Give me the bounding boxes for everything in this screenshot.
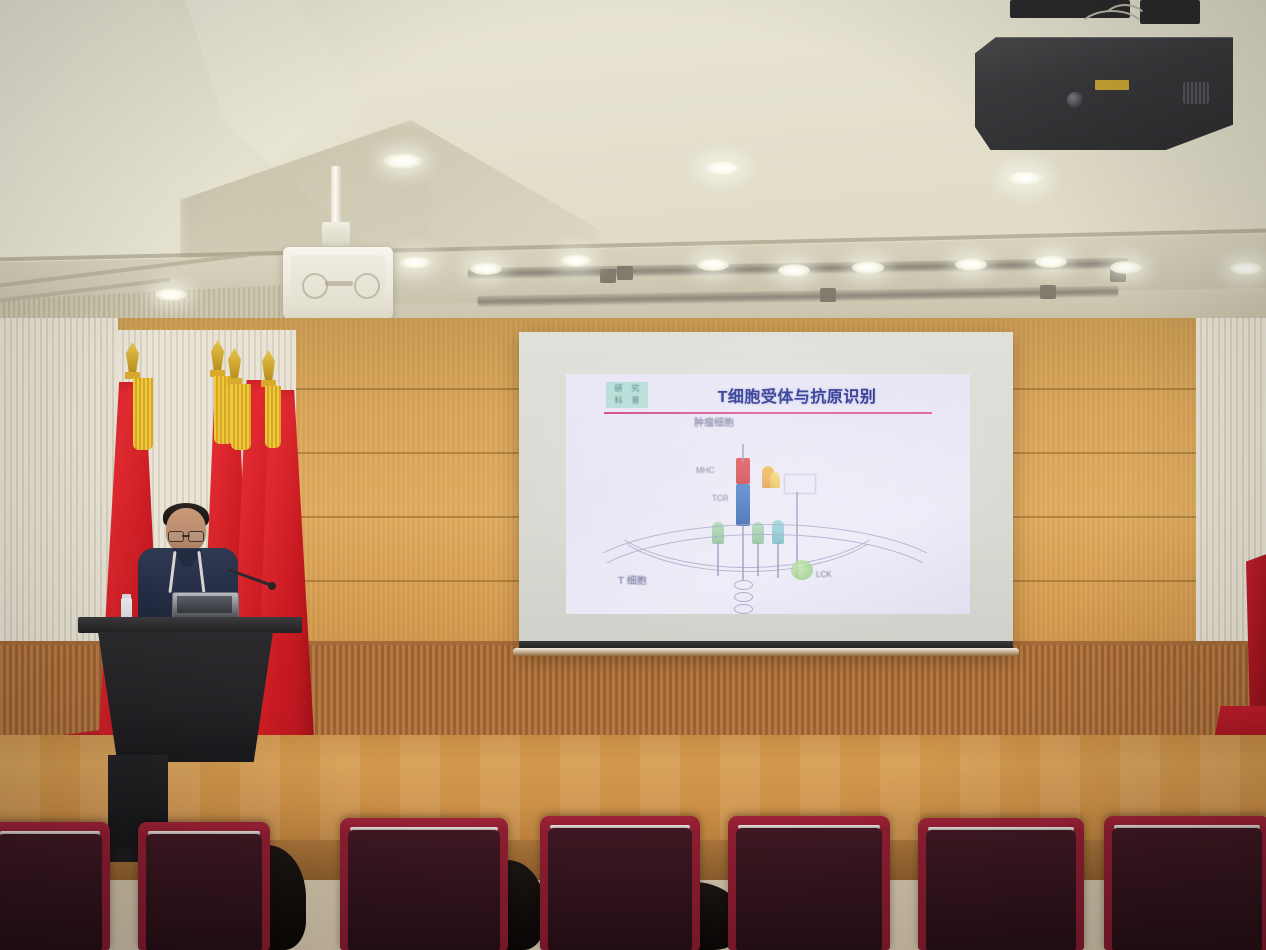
microphone-head-icon xyxy=(268,582,276,590)
audience-seat-1 xyxy=(0,822,110,950)
downlight-5 xyxy=(399,256,431,269)
downlight-1 xyxy=(383,153,423,169)
speaker-bracket xyxy=(322,222,350,246)
mhc-label: MHC xyxy=(696,466,714,475)
downlight-2 xyxy=(702,160,742,176)
downlight-4 xyxy=(155,288,187,301)
auditorium-photo: 研 究 科 普 T细胞受体与抗原识别 肿瘤细胞 MHC TCR xyxy=(0,0,1266,950)
track-clip-2 xyxy=(617,266,633,280)
logo-char-2: 究 xyxy=(628,384,644,394)
seat-backrest xyxy=(1112,828,1262,950)
glasses-lens-right xyxy=(188,531,204,542)
signal-chain-1 xyxy=(734,580,753,590)
downlight-13 xyxy=(1110,261,1142,274)
flag-tassel-3 xyxy=(231,384,251,450)
tcr-label: TCR xyxy=(712,494,728,503)
audience-seat-3 xyxy=(340,818,508,950)
logo-char-3: 科 xyxy=(611,396,627,406)
signal-chain-3 xyxy=(734,604,753,614)
lck-kinase-icon xyxy=(791,560,813,580)
podium-top-surface xyxy=(78,617,302,633)
downlight-3 xyxy=(1005,170,1045,186)
audience-seat-7 xyxy=(1104,816,1266,950)
tumor-cell-label: 肿瘤细胞 xyxy=(694,414,734,429)
signal-highlight xyxy=(770,472,780,488)
track-clip-3 xyxy=(820,288,836,302)
audience-seat-5 xyxy=(728,816,890,950)
presenter-head xyxy=(166,508,206,552)
glasses-lens-left xyxy=(168,531,184,542)
seat-backrest xyxy=(348,830,500,950)
projector-sticker xyxy=(1095,80,1129,90)
track-clip-4 xyxy=(1040,285,1056,299)
seat-backrest xyxy=(548,828,692,950)
mhc-stalk xyxy=(742,444,744,462)
t-cell-label: T 细胞 xyxy=(618,572,647,587)
audience-seat-2 xyxy=(138,822,270,950)
seat-backrest xyxy=(736,828,882,950)
laptop-screen xyxy=(177,596,232,613)
projector-lens-icon xyxy=(1067,92,1083,108)
slide-title-underline xyxy=(604,412,932,414)
projector-vent-icon xyxy=(1183,82,1209,104)
logo-char-4: 普 xyxy=(628,396,644,406)
slide-title: T细胞受体与抗原识别 xyxy=(672,382,922,408)
slide-logo: 研 究 科 普 xyxy=(606,382,648,408)
downlight-10 xyxy=(852,261,884,274)
seat-backrest xyxy=(146,834,262,950)
track-clip-1 xyxy=(600,269,616,283)
speaker-mount-pole xyxy=(331,166,341,228)
slide-content: 研 究 科 普 T细胞受体与抗原识别 肿瘤细胞 MHC TCR xyxy=(566,374,970,614)
flag-tassel-4 xyxy=(265,386,281,448)
screen-roller-tube xyxy=(513,648,1019,656)
downlight-6 xyxy=(470,262,502,275)
lck-label: LCK xyxy=(816,570,832,579)
seat-backrest xyxy=(0,834,102,950)
downlight-11 xyxy=(955,258,987,271)
logo-char-1: 研 xyxy=(611,384,627,394)
speaker-driver-right-icon xyxy=(354,273,380,299)
downlight-7 xyxy=(560,254,592,267)
signal-chain-2 xyxy=(734,592,753,602)
speaker-center-bar xyxy=(325,281,353,286)
speaker-driver-left-icon xyxy=(302,273,328,299)
downlight-12 xyxy=(1035,255,1067,268)
flag-tassel-1 xyxy=(133,378,153,450)
audience-seat-4 xyxy=(540,816,700,950)
downlight-14 xyxy=(1230,262,1262,275)
downlight-8 xyxy=(697,258,729,271)
podium xyxy=(98,632,273,762)
downlight-9 xyxy=(778,264,810,277)
glasses-icon xyxy=(168,531,204,540)
seat-backrest xyxy=(926,830,1076,950)
audience-seat-6 xyxy=(918,818,1084,950)
mhc-molecule-block xyxy=(736,484,750,526)
signal-annotation xyxy=(784,474,816,494)
